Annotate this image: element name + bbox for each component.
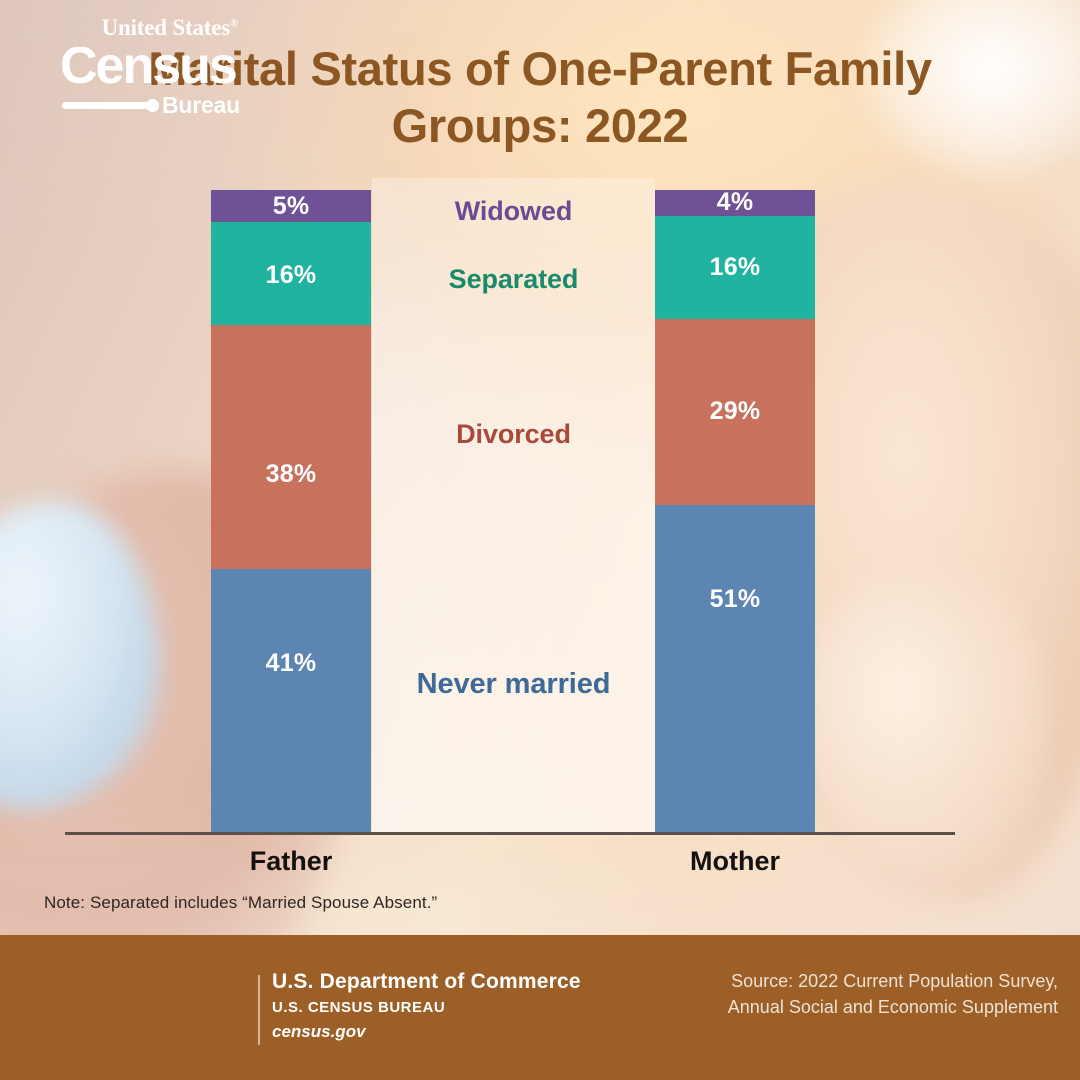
value-mother-separated: 16%	[710, 253, 761, 282]
department-block: U.S. Department of Commerce U.S. CENSUS …	[272, 970, 581, 1042]
value-father-separated: 16%	[266, 261, 317, 290]
value-mother-never-married: 51%	[710, 585, 761, 614]
department-name: U.S. Department of Commerce	[272, 970, 581, 994]
stacked-bar-chart: 5% 16% 38% 41% 4% 16% 29% 51%	[0, 0, 1080, 1080]
segment-mother-separated: 16%	[655, 216, 815, 319]
axis-baseline	[65, 832, 955, 835]
logo-census-word: Census	[60, 40, 240, 92]
bar-mother: 4% 16% 29% 51%	[655, 190, 815, 833]
footer-divider	[258, 975, 260, 1045]
registered-mark-icon: ®	[230, 17, 238, 29]
logo-bureau-row: Bureau	[60, 94, 240, 117]
segment-father-divorced: 38%	[211, 325, 371, 569]
category-label-mother: Mother	[625, 846, 845, 877]
source-line-2: Annual Social and Economic Supplement	[658, 994, 1058, 1020]
census-website-link[interactable]: census.gov	[272, 1022, 581, 1042]
category-label-father: Father	[181, 846, 401, 877]
value-mother-widowed: 4%	[717, 188, 754, 217]
segment-father-widowed: 5%	[211, 190, 371, 222]
census-logo: United States® Census Bureau	[60, 16, 240, 117]
logo-rule-icon	[62, 102, 156, 109]
legend-label-divorced: Divorced	[372, 419, 655, 450]
infographic-canvas: Marital Status of One-Parent Family Grou…	[0, 0, 1080, 1080]
segment-father-never-married: 41%	[211, 569, 371, 833]
legend-label-never-married: Never married	[372, 668, 655, 701]
value-mother-divorced: 29%	[710, 397, 761, 426]
value-father-never-married: 41%	[266, 649, 317, 678]
chart-note: Note: Separated includes “Married Spouse…	[44, 893, 437, 913]
logo-united-states: United States®	[60, 16, 240, 39]
segment-mother-never-married: 51%	[655, 505, 815, 833]
segment-mother-widowed: 4%	[655, 190, 815, 216]
source-citation: Source: 2022 Current Population Survey, …	[658, 968, 1058, 1020]
segment-father-separated: 16%	[211, 222, 371, 325]
legend-label-separated: Separated	[372, 264, 655, 295]
bar-father: 5% 16% 38% 41%	[211, 190, 371, 833]
source-line-1: Source: 2022 Current Population Survey,	[658, 968, 1058, 994]
legend-label-widowed: Widowed	[372, 196, 655, 227]
logo-bureau-word: Bureau	[162, 94, 240, 117]
value-father-widowed: 5%	[273, 192, 310, 221]
segment-mother-divorced: 29%	[655, 319, 815, 505]
bureau-name: U.S. CENSUS BUREAU	[272, 999, 581, 1016]
value-father-divorced: 38%	[266, 460, 317, 489]
